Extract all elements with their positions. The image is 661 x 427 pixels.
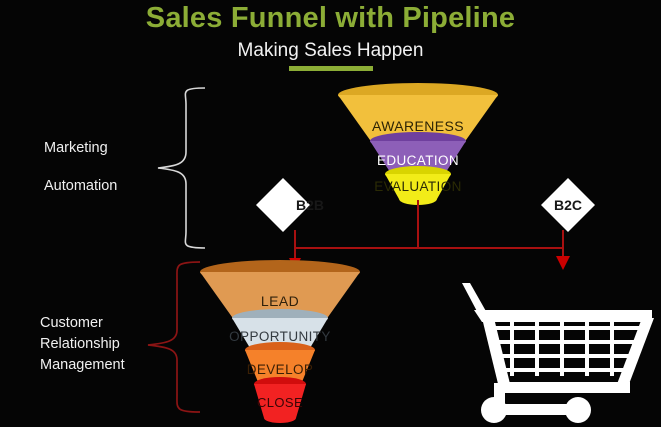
stage-label-evaluation: EVALUATION [318,179,518,194]
shopping-cart-icon [462,283,654,423]
stage-label-awareness: AWARENESS [318,118,518,134]
stage-label-lead: LEAD [180,293,380,309]
stage-label-opportunity: OPPORTUNITY [180,329,380,344]
node-label-b2b: B2B [275,197,345,213]
node-label-b2c: B2C [533,197,603,213]
brace-marketing [158,88,205,248]
stage-label-develop: DEVELOP [180,362,380,377]
stage-label-close: CLOSE [180,395,380,410]
arrow-to-cart [556,256,570,270]
stage-label-education: EDUCATION [318,153,518,168]
diagram-canvas: Sales Funnel with Pipeline Making Sales … [0,0,661,427]
